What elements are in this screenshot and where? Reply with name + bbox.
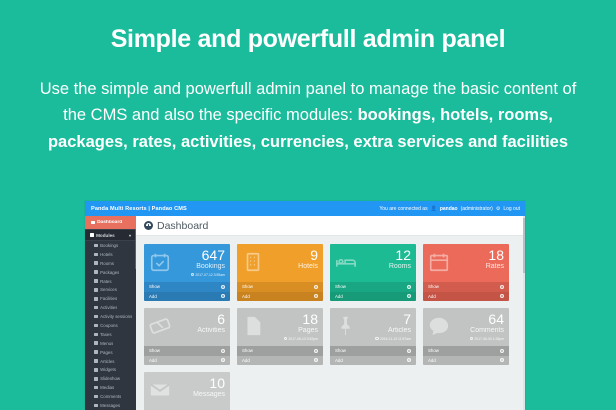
gear-icon — [314, 294, 318, 298]
stat-card-timestamp-text: 2016-11-13 11:57am — [380, 337, 411, 341]
ticket-icon — [149, 315, 171, 337]
clock-icon — [375, 337, 378, 340]
sidebar-item-packages[interactable]: Packages — [85, 268, 136, 277]
wrench-icon — [94, 297, 98, 301]
stat-card-values: 12Rooms — [389, 248, 411, 282]
stat-card-values: 6Activities — [197, 312, 225, 346]
stat-card-label: Messages — [193, 391, 225, 398]
slideshow-icon — [94, 377, 98, 381]
stat-card-show-action[interactable]: Show — [423, 282, 509, 292]
stat-card-grid: 647Bookings2017-07-12 3:55amShowAdd9Hote… — [136, 236, 525, 410]
stat-card-values: 9Hotels — [298, 248, 318, 282]
gear-icon — [407, 349, 411, 353]
widgets-icon — [94, 368, 98, 372]
stat-card-add-label: Add — [428, 294, 436, 299]
stat-card-count: 647 — [191, 248, 226, 262]
bed-icon — [94, 261, 98, 265]
stat-card-bookings[interactable]: 647Bookings2017-07-12 3:55amShowAdd — [144, 244, 230, 301]
content-scrollbar[interactable] — [523, 216, 525, 410]
page-icon — [94, 350, 98, 354]
stat-card-add-label: Add — [149, 358, 157, 363]
sidebar-item-coupons[interactable]: Coupons — [85, 321, 136, 330]
clock-icon — [284, 337, 287, 340]
stat-card-count: 6 — [197, 312, 225, 326]
stat-card-timestamp: 2016-11-13 11:57am — [375, 337, 411, 341]
sidebar-item-slideshow[interactable]: Slideshow — [85, 374, 136, 383]
stat-card-show-action[interactable]: Show — [423, 346, 509, 356]
gear-icon — [314, 349, 318, 353]
stat-card-add-action[interactable]: Add — [237, 292, 323, 302]
stat-card-timestamp-text: 2017-06-30 1:28pm — [474, 337, 504, 341]
building-icon — [242, 251, 264, 273]
stat-card-label: Rates — [486, 263, 504, 270]
sidebar-item-label: Rooms — [100, 261, 114, 266]
sidebar-item-messages[interactable]: Messages — [85, 401, 136, 410]
stat-card-values: 18Rates — [486, 248, 504, 282]
brand-label: Panda Multi Resorts | Pandao CMS — [91, 206, 187, 212]
sidebar-item-label: Articles — [100, 359, 114, 364]
stat-card-show-action[interactable]: Show — [237, 282, 323, 292]
stat-card-rates[interactable]: 18RatesShowAdd — [423, 244, 509, 301]
stat-card-articles[interactable]: 7Articles2016-11-13 11:57amShowAdd — [330, 308, 416, 365]
content-title: Dashboard — [157, 220, 208, 232]
sidebar-item-taxes[interactable]: Taxes — [85, 330, 136, 339]
sidebar-item-label: Slideshow — [100, 376, 120, 381]
stat-card-label: Pages — [284, 327, 319, 334]
modules-icon — [90, 233, 94, 237]
stat-card-header: 9Hotels — [237, 244, 323, 282]
stat-card-values: 10Messages — [193, 376, 225, 410]
hotel-icon — [94, 253, 98, 257]
stat-card-count: 18 — [284, 312, 319, 326]
sidebar-item-label: Activities — [100, 305, 117, 310]
stat-card-add-action[interactable]: Add — [330, 356, 416, 366]
hero-section: Simple and powerfull admin panel Use the… — [0, 0, 616, 155]
stat-card-timestamp-text: 2017-07-12 3:55am — [195, 273, 225, 277]
sidebar-item-rates[interactable]: Rates — [85, 277, 136, 286]
gear-icon — [500, 285, 504, 289]
package-icon — [94, 270, 98, 274]
stat-card-label: Hotels — [298, 263, 318, 270]
gear-icon — [500, 349, 504, 353]
stat-card-show-label: Show — [149, 348, 160, 353]
dashboard-gauge-icon — [144, 221, 153, 230]
stat-card-timestamp: 2017-06-13 3:52pm — [284, 337, 319, 341]
sidebar-item-label: Pages — [100, 350, 112, 355]
dashboard-icon — [91, 221, 95, 225]
admin-topbar: Panda Multi Resorts | Pandao CMS You are… — [85, 201, 525, 216]
comment-icon — [94, 395, 98, 399]
admin-content: Dashboard 647Bookings2017-07-12 3:55amSh… — [136, 216, 525, 410]
stat-card-add-action[interactable]: Add — [144, 292, 230, 302]
sidebar-item-label: Medias — [100, 385, 114, 390]
stat-card-show-action[interactable]: Show — [330, 282, 416, 292]
pin-icon — [94, 359, 98, 363]
stat-card-count: 64 — [470, 312, 505, 326]
services-icon — [94, 288, 98, 292]
medias-icon — [94, 386, 98, 390]
hero-subtitle: Use the simple and powerfull admin panel… — [38, 76, 578, 155]
sidebar-item-label: Rates — [100, 279, 111, 284]
stat-card-hotels[interactable]: 9HotelsShowAdd — [237, 244, 323, 301]
stat-card-values: 64Comments2017-06-30 1:28pm — [470, 312, 505, 346]
stat-card-activities[interactable]: 6ActivitiesShowAdd — [144, 308, 230, 365]
stat-card-values: 7Articles2016-11-13 11:57am — [375, 312, 411, 346]
sidebar-item-rooms[interactable]: Rooms — [85, 259, 136, 268]
scrollbar-thumb[interactable] — [523, 218, 525, 273]
stat-card-timestamp: 2017-06-30 1:28pm — [470, 337, 505, 341]
gear-icon — [221, 285, 225, 289]
stat-card-label: Activities — [197, 327, 225, 334]
sidebar-item-widgets[interactable]: Widgets — [85, 365, 136, 374]
calendar-icon — [428, 251, 450, 273]
stat-card-count: 10 — [193, 376, 225, 390]
envelope-icon — [94, 404, 98, 408]
gear-icon — [314, 285, 318, 289]
stat-card-show-action[interactable]: Show — [144, 282, 230, 292]
stat-card-comments[interactable]: 64Comments2017-06-30 1:28pmShowAdd — [423, 308, 509, 365]
gear-icon — [221, 294, 225, 298]
coupon-icon — [94, 324, 98, 328]
stat-card-add-action[interactable]: Add — [423, 356, 509, 366]
connected-as-label: You are connected as — [379, 206, 427, 212]
content-header: Dashboard — [136, 216, 525, 236]
stat-card-timestamp-text: 2017-06-13 3:52pm — [288, 337, 318, 341]
stat-card-show-action[interactable]: Show — [330, 346, 416, 356]
sidebar-item-label: Dashboard — [97, 220, 122, 225]
sidebar-item-label: Menus — [100, 341, 113, 346]
stat-card-header: 7Articles2016-11-13 11:57am — [330, 308, 416, 346]
power-icon[interactable]: ⚙ — [496, 206, 500, 212]
sidebar-item-bookings[interactable]: Bookings — [85, 241, 136, 250]
sidebar-item-menus[interactable]: Menus — [85, 339, 136, 348]
sidebar-item-pages[interactable]: Pages — [85, 348, 136, 357]
sidebar-item-activity-sessions[interactable]: Activity sessions — [85, 312, 136, 321]
stat-card-show-label: Show — [242, 284, 253, 289]
clock-icon — [94, 315, 98, 319]
sidebar-item-medias[interactable]: Medias — [85, 383, 136, 392]
rates-icon — [94, 279, 98, 283]
clock-icon — [191, 273, 194, 276]
stat-card-values: 647Bookings2017-07-12 3:55am — [191, 248, 226, 282]
file-icon — [242, 315, 264, 337]
sidebar-item-label: Coupons — [100, 323, 118, 328]
gear-icon — [221, 349, 225, 353]
sidebar-item-facilities[interactable]: Facilities — [85, 294, 136, 303]
stat-card-add-action[interactable]: Add — [423, 292, 509, 302]
sidebar-item-label: Comments — [100, 394, 121, 399]
gear-icon — [500, 294, 504, 298]
sidebar-item-label: Widgets — [100, 367, 116, 372]
sidebar-item-activities[interactable]: Activities — [85, 303, 136, 312]
sidebar-item-label: Taxes — [100, 332, 111, 337]
sidebar-item-services[interactable]: Services — [85, 285, 136, 294]
gear-icon — [500, 358, 504, 362]
gear-icon — [407, 285, 411, 289]
stat-card-header: 64Comments2017-06-30 1:28pm — [423, 308, 509, 346]
sidebar-item-dashboard[interactable]: Dashboard — [85, 216, 136, 229]
chevron-down-icon: ▾ — [129, 233, 131, 238]
stat-card-label: Bookings — [191, 263, 226, 270]
clock-icon — [470, 337, 473, 340]
admin-body: Dashboard Modules ▾ BookingsHotelsRoomsP… — [85, 216, 525, 410]
stat-card-add-action[interactable]: Add — [330, 292, 416, 302]
stat-card-count: 18 — [486, 248, 504, 262]
stat-card-show-action[interactable]: Show — [144, 346, 230, 356]
stat-card-label: Rooms — [389, 263, 411, 270]
taxes-icon — [94, 333, 98, 337]
sidebar-item-label: Services — [100, 287, 117, 292]
bed-icon — [335, 251, 357, 273]
sidebar-item-label: Activity sessions — [100, 314, 132, 319]
admin-sidebar: Dashboard Modules ▾ BookingsHotelsRoomsP… — [85, 216, 136, 410]
stat-card-header: 18Rates — [423, 244, 509, 282]
sidebar-item-label: Facilities — [100, 296, 117, 301]
bookings-icon — [94, 244, 98, 248]
sidebar-item-articles[interactable]: Articles — [85, 357, 136, 366]
stat-card-header: 6Activities — [144, 308, 230, 346]
pin-icon — [335, 315, 357, 337]
stat-card-timestamp: 2017-07-12 3:55am — [191, 273, 226, 277]
sidebar-item-list: BookingsHotelsRoomsPackagesRatesServices… — [85, 241, 136, 410]
stat-card-count: 12 — [389, 248, 411, 262]
stat-card-add-action[interactable]: Add — [144, 356, 230, 366]
admin-panel-screenshot: Panda Multi Resorts | Pandao CMS You are… — [85, 201, 525, 410]
sidebar-item-label: Packages — [100, 270, 119, 275]
stat-card-messages[interactable]: 10MessagesShowAdd — [144, 372, 230, 410]
stat-card-add-label: Add — [242, 358, 250, 363]
sidebar-item-label: Messages — [100, 403, 120, 408]
user-icon: 👤 — [431, 206, 437, 212]
role-label: (administrator) — [461, 206, 493, 212]
topbar-user-area: You are connected as 👤 pandao (administr… — [379, 206, 520, 212]
sidebar-item-comments[interactable]: Comments — [85, 392, 136, 401]
menus-icon — [94, 341, 98, 345]
stat-card-values: 18Pages2017-06-13 3:52pm — [284, 312, 319, 346]
sidebar-group-modules[interactable]: Modules ▾ — [85, 229, 136, 241]
stat-card-add-label: Add — [149, 294, 157, 299]
stat-card-show-label: Show — [242, 348, 253, 353]
stat-card-pages[interactable]: 18Pages2017-06-13 3:52pmShowAdd — [237, 308, 323, 365]
calendar-check-icon — [149, 251, 171, 273]
envelope-icon — [149, 379, 171, 401]
sidebar-group-label: Modules — [96, 233, 115, 238]
stat-card-add-label: Add — [242, 294, 250, 299]
comment-icon — [428, 315, 450, 337]
stat-card-label: Comments — [470, 327, 505, 334]
activities-icon — [94, 306, 98, 310]
stat-card-header: 10Messages — [144, 372, 230, 410]
logout-button[interactable]: Log out — [503, 206, 520, 212]
gear-icon — [314, 358, 318, 362]
stat-card-add-label: Add — [428, 358, 436, 363]
sidebar-item-hotels[interactable]: Hotels — [85, 250, 136, 259]
stat-card-add-label: Add — [335, 358, 343, 363]
gear-icon — [407, 358, 411, 362]
username-label: pandao — [440, 206, 458, 212]
stat-card-header: 12Rooms — [330, 244, 416, 282]
stat-card-show-label: Show — [428, 348, 439, 353]
stat-card-show-action[interactable]: Show — [237, 346, 323, 356]
stat-card-count: 7 — [375, 312, 411, 326]
stat-card-add-action[interactable]: Add — [237, 356, 323, 366]
stat-card-show-label: Show — [335, 284, 346, 289]
page-title: Simple and powerfull admin panel — [38, 24, 578, 54]
stat-card-count: 9 — [298, 248, 318, 262]
sidebar-item-label: Hotels — [100, 252, 112, 257]
sidebar-item-label: Bookings — [100, 243, 118, 248]
stat-card-header: 647Bookings2017-07-12 3:55am — [144, 244, 230, 282]
stat-card-header: 18Pages2017-06-13 3:52pm — [237, 308, 323, 346]
stat-card-rooms[interactable]: 12RoomsShowAdd — [330, 244, 416, 301]
stat-card-add-label: Add — [335, 294, 343, 299]
stat-card-label: Articles — [375, 327, 411, 334]
stat-card-show-label: Show — [149, 284, 160, 289]
stat-card-show-label: Show — [428, 284, 439, 289]
stat-card-show-label: Show — [335, 348, 346, 353]
gear-icon — [221, 358, 225, 362]
gear-icon — [407, 294, 411, 298]
